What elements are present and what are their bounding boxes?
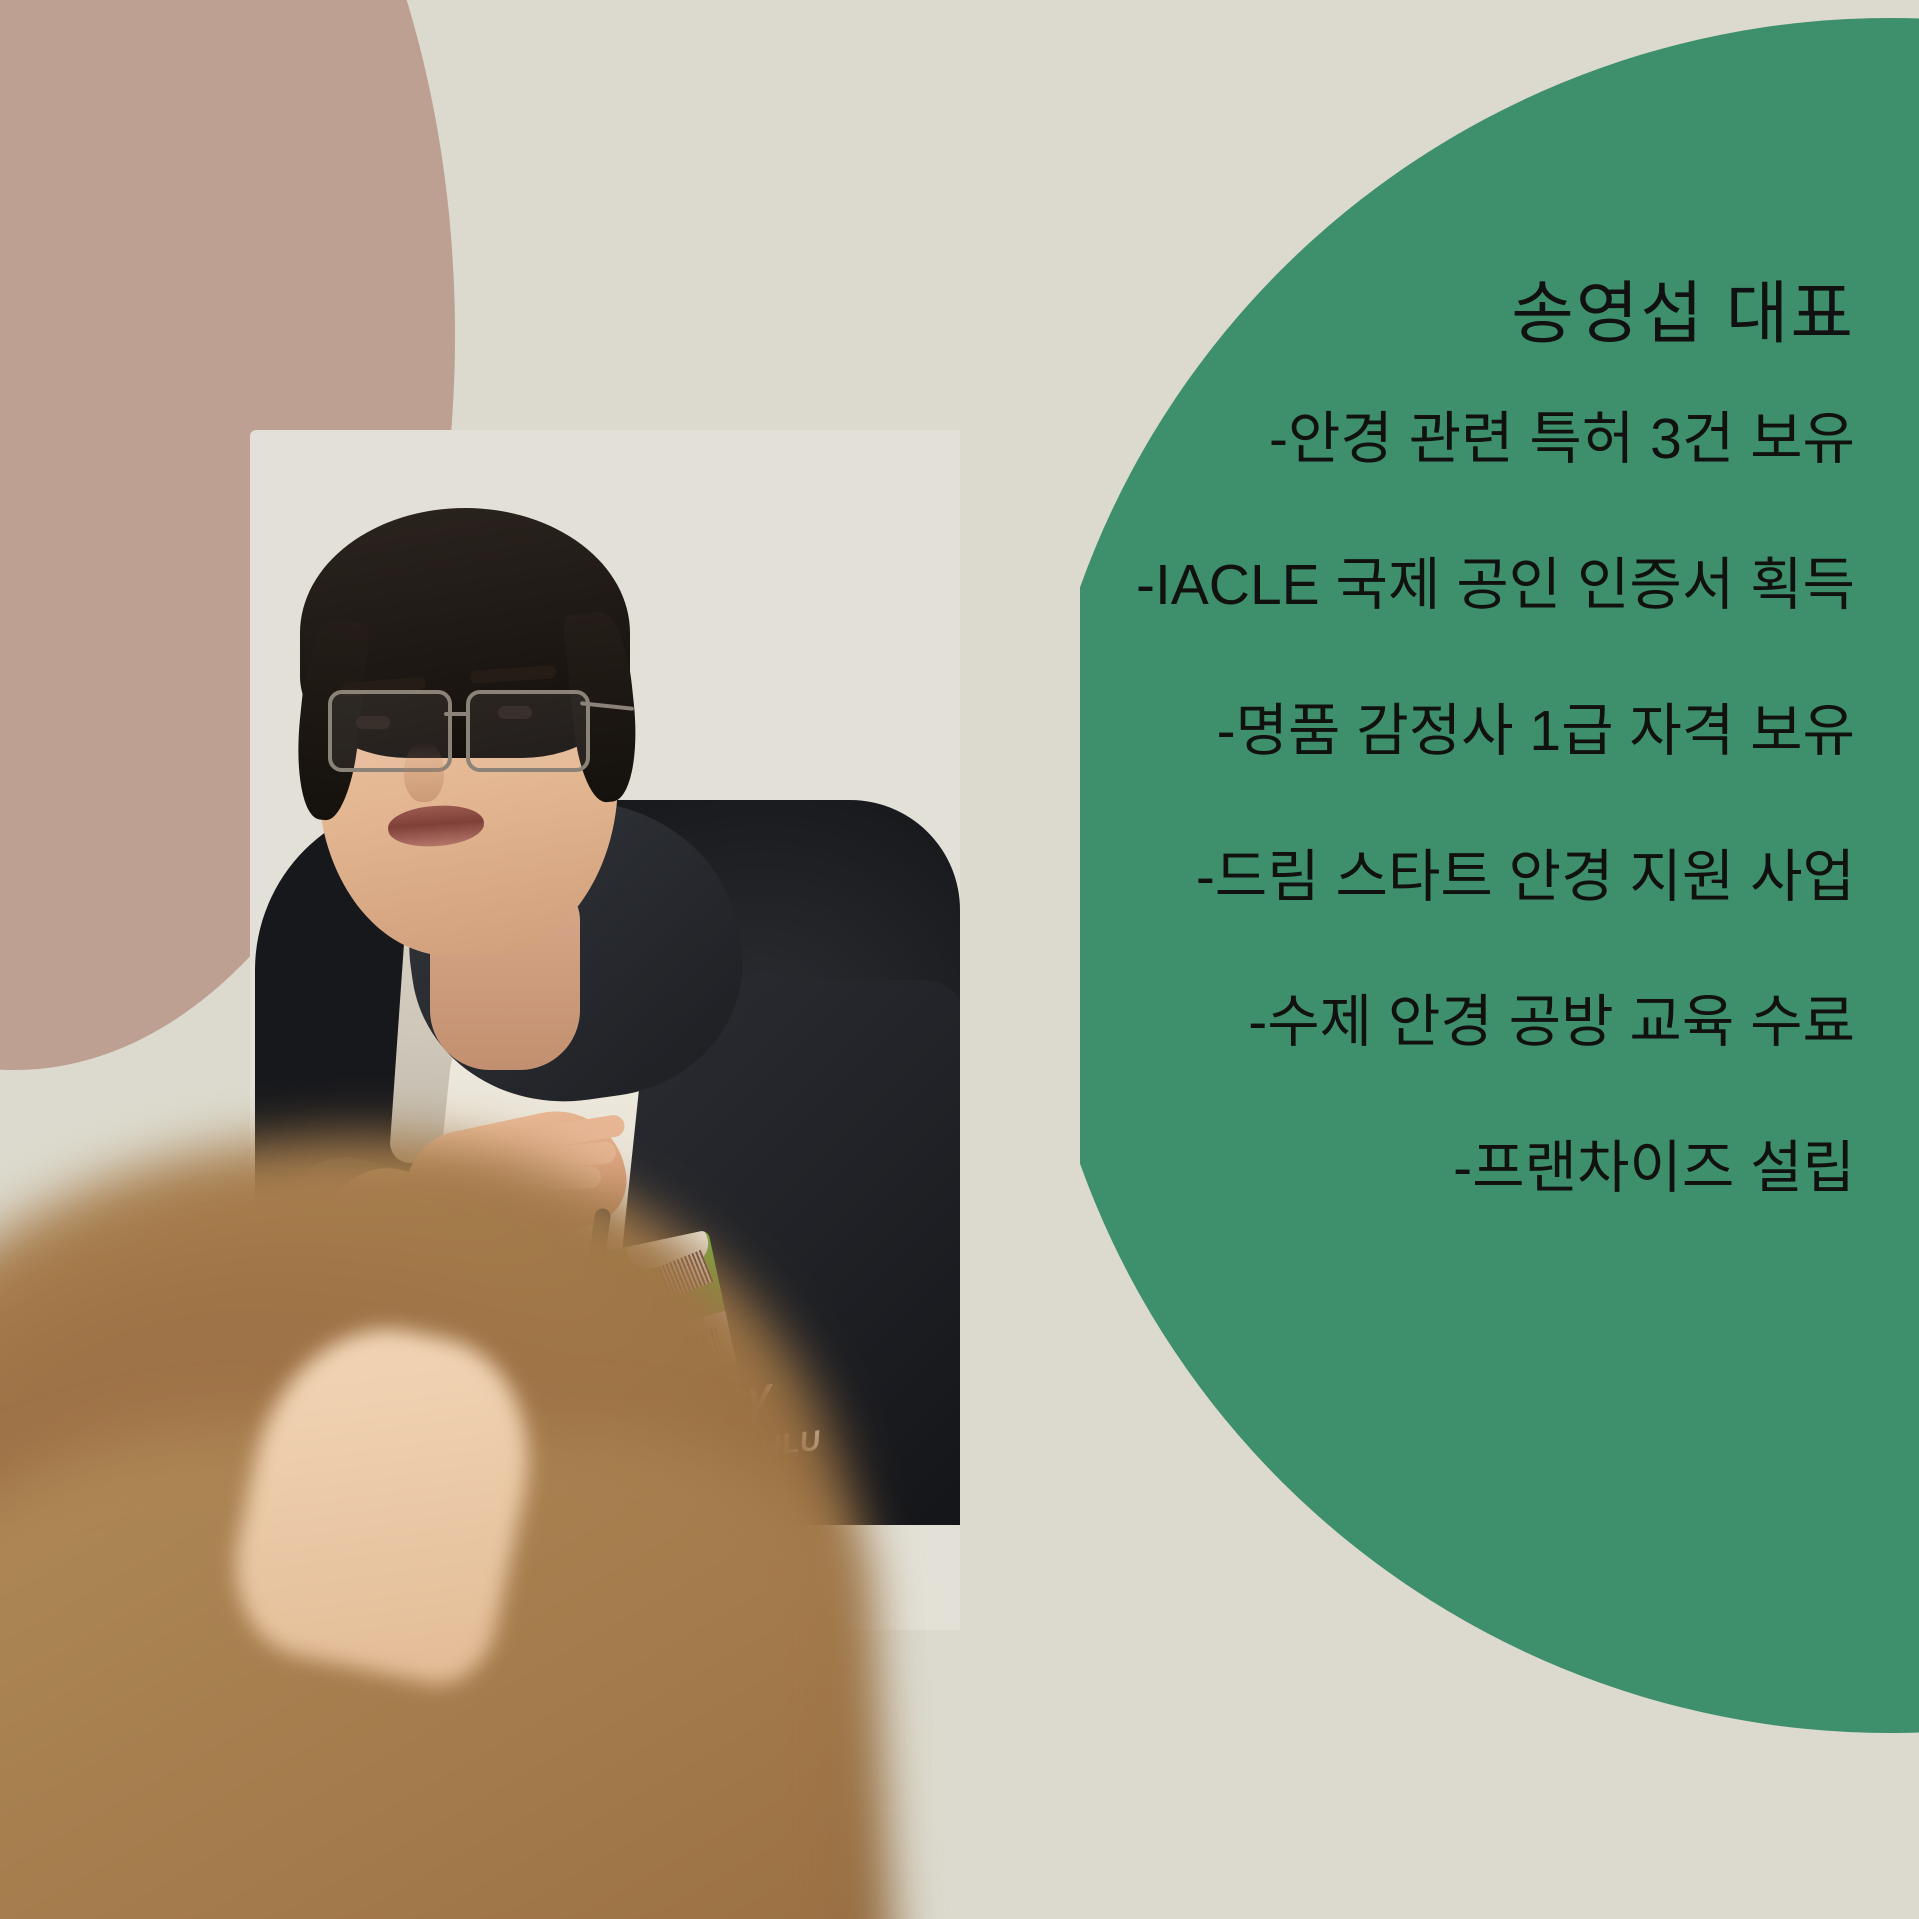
credentials-list: -안경 관련 특허 3건 보유 -IACLE 국제 공인 인증서 획득 -명품 …	[855, 410, 1855, 1199]
credential-item: -수제 안경 공방 교육 수료	[855, 993, 1855, 1053]
subject-photo: Stussy HONOLULU	[0, 0, 960, 1919]
credential-item: -프랜차이즈 설립	[855, 1139, 1855, 1199]
eyeglass-lens-right	[466, 690, 590, 772]
credential-item: -안경 관련 특허 3건 보유	[855, 410, 1855, 470]
eyeglasses-icon	[316, 684, 626, 774]
credential-item: -IACLE 국제 공인 인증서 획득	[855, 556, 1855, 616]
nose	[404, 742, 444, 802]
credential-item: -드림 스타트 안경 지원 사업	[855, 848, 1855, 908]
eyeglass-bridge	[444, 712, 468, 716]
profile-text-column: 송영섭 대표 -안경 관련 특허 3건 보유 -IACLE 국제 공인 인증서 …	[860, 0, 1900, 1919]
profile-card: Stussy HONOLULU 송영섭 대표 -안경 관련 특허 3건 보유 -…	[0, 0, 1919, 1919]
credential-item: -명품 감정사 1급 자격 보유	[855, 702, 1855, 762]
page-title: 송영섭 대표	[1511, 258, 1855, 357]
